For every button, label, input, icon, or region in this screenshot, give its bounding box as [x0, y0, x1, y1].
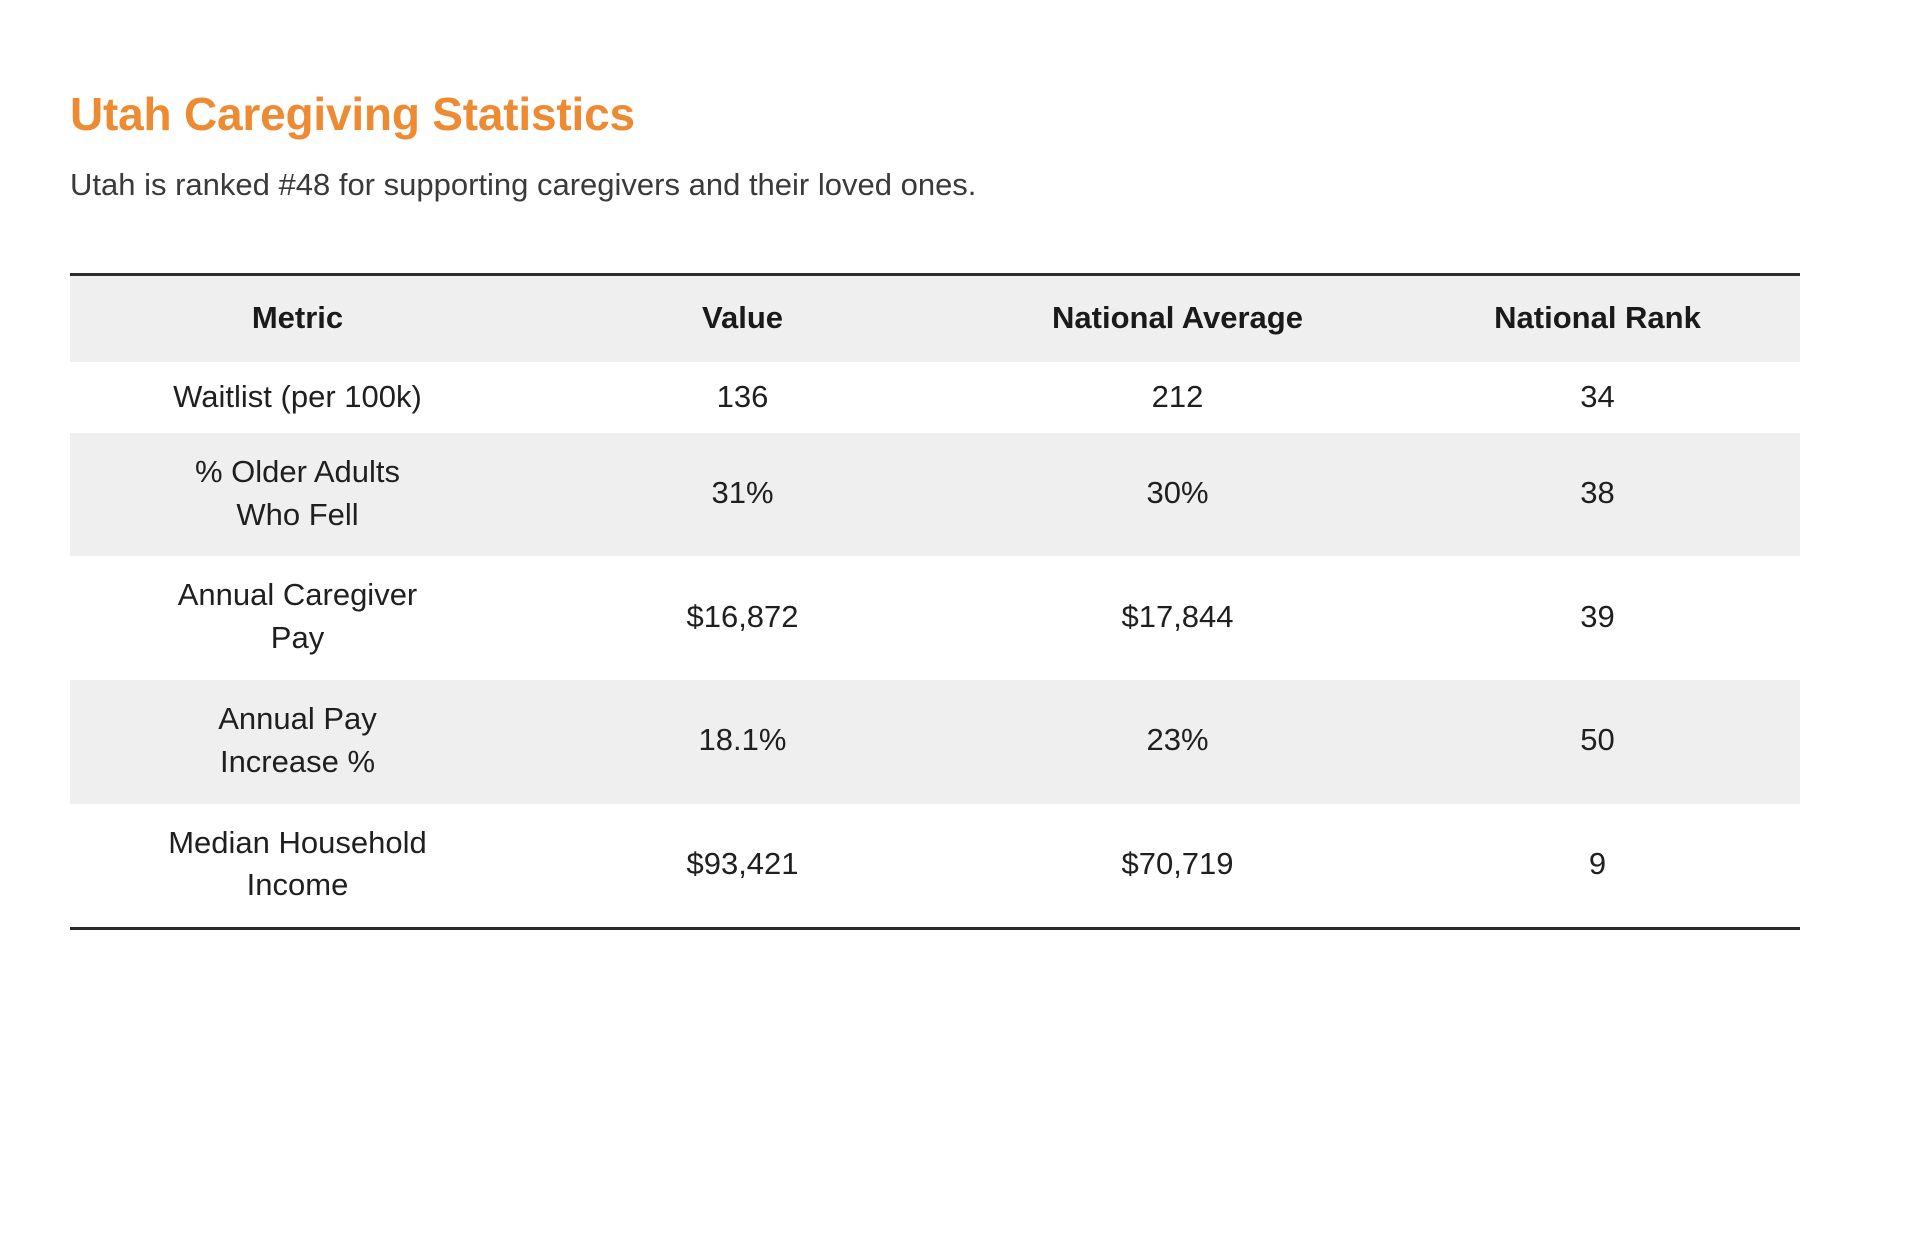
cell-value: 18.1%: [525, 680, 960, 804]
column-header-national-rank: National Rank: [1395, 275, 1800, 363]
cell-metric: Annual Pay Increase %: [70, 680, 525, 804]
statistics-page: Utah Caregiving Statistics Utah is ranke…: [0, 0, 1920, 1234]
cell-national-average: 23%: [960, 680, 1395, 804]
table-row: Median Household Income $93,421 $70,719 …: [70, 804, 1800, 929]
cell-national-rank: 34: [1395, 362, 1800, 433]
table-row: Waitlist (per 100k) 136 212 34: [70, 362, 1800, 433]
table-header: Metric Value National Average National R…: [70, 275, 1800, 363]
cell-national-rank: 50: [1395, 680, 1800, 804]
table-row: Annual Caregiver Pay $16,872 $17,844 39: [70, 556, 1800, 680]
page-subtitle: Utah is ranked #48 for supporting caregi…: [70, 141, 1800, 205]
cell-metric: Waitlist (per 100k): [70, 362, 525, 433]
table-row: Annual Pay Increase % 18.1% 23% 50: [70, 680, 1800, 804]
cell-national-average: $17,844: [960, 556, 1395, 680]
cell-value: 31%: [525, 433, 960, 557]
column-header-value: Value: [525, 275, 960, 363]
cell-value: $93,421: [525, 804, 960, 929]
metric-label-line: Annual Pay: [100, 698, 495, 741]
table-body: Waitlist (per 100k) 136 212 34 % Older A…: [70, 362, 1800, 928]
metric-label-line: Annual Caregiver: [100, 574, 495, 617]
metric-label-line: Median Household: [100, 822, 495, 865]
table-header-row: Metric Value National Average National R…: [70, 275, 1800, 363]
cell-metric: Median Household Income: [70, 804, 525, 929]
cell-national-rank: 38: [1395, 433, 1800, 557]
table-row: % Older Adults Who Fell 31% 30% 38: [70, 433, 1800, 557]
metric-label-line: Waitlist (per 100k): [100, 376, 495, 419]
cell-national-average: 212: [960, 362, 1395, 433]
stats-table-container: Metric Value National Average National R…: [70, 273, 1800, 930]
page-content: Utah Caregiving Statistics Utah is ranke…: [70, 0, 1800, 930]
metric-label-line: % Older Adults: [100, 451, 495, 494]
cell-national-rank: 39: [1395, 556, 1800, 680]
cell-national-average: 30%: [960, 433, 1395, 557]
caregiving-statistics-table: Metric Value National Average National R…: [70, 273, 1800, 930]
metric-label-line: Who Fell: [100, 494, 495, 537]
cell-national-average: $70,719: [960, 804, 1395, 929]
cell-metric: % Older Adults Who Fell: [70, 433, 525, 557]
metric-label-line: Income: [100, 864, 495, 907]
metric-label-line: Pay: [100, 617, 495, 660]
column-header-metric: Metric: [70, 275, 525, 363]
page-title: Utah Caregiving Statistics: [70, 0, 1800, 141]
cell-national-rank: 9: [1395, 804, 1800, 929]
cell-value: 136: [525, 362, 960, 433]
cell-value: $16,872: [525, 556, 960, 680]
cell-metric: Annual Caregiver Pay: [70, 556, 525, 680]
metric-label-line: Increase %: [100, 741, 495, 784]
column-header-national-average: National Average: [960, 275, 1395, 363]
